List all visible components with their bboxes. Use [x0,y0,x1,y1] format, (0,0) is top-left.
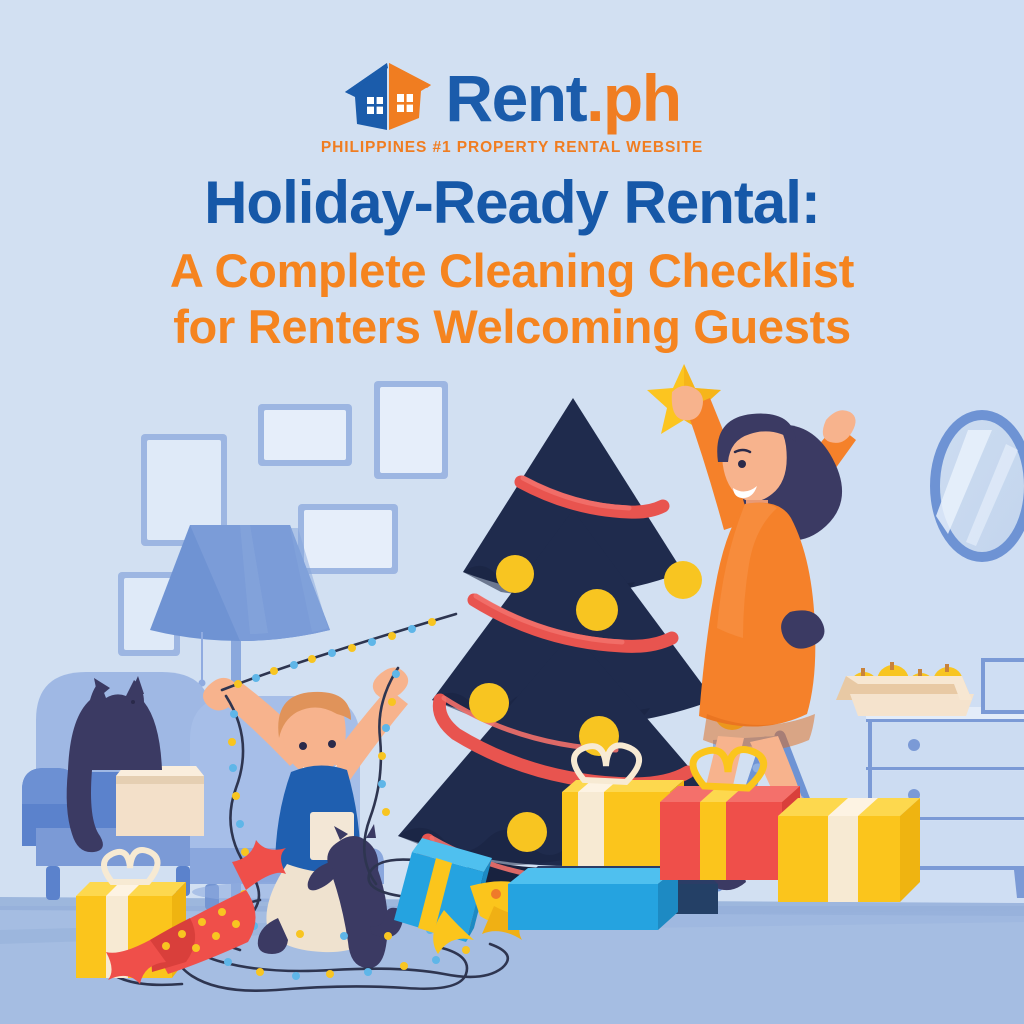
side-table [116,766,204,836]
gift-box [778,798,920,902]
wall-frame [374,381,448,479]
brand-wordmark: Rent.ph [445,65,680,131]
picture-stand [983,660,1024,712]
gift-box [508,868,678,930]
house-icon [343,60,435,136]
wall-frame [298,504,398,574]
headline-line-3: for Renters Welcoming Guests [0,299,1024,355]
headline-line-2: A Complete Cleaning Checklist [0,243,1024,299]
poster-header: Rent.ph PHILIPPINES #1 PROPERTY RENTAL W… [0,0,1024,360]
headline-subtitle: A Complete Cleaning Checklist for Renter… [0,243,1024,356]
poster-canvas: Rent.ph PHILIPPINES #1 PROPERTY RENTAL W… [0,0,1024,1024]
wall-frame [258,404,352,466]
brand-suffix: .ph [586,61,680,135]
brand-name: Rent [445,61,586,135]
headline-line-1: Holiday-Ready Rental: [0,172,1024,234]
brand-tagline: PHILIPPINES #1 PROPERTY RENTAL WEBSITE [0,139,1024,157]
brand-logo[interactable]: Rent.ph [0,57,1024,139]
